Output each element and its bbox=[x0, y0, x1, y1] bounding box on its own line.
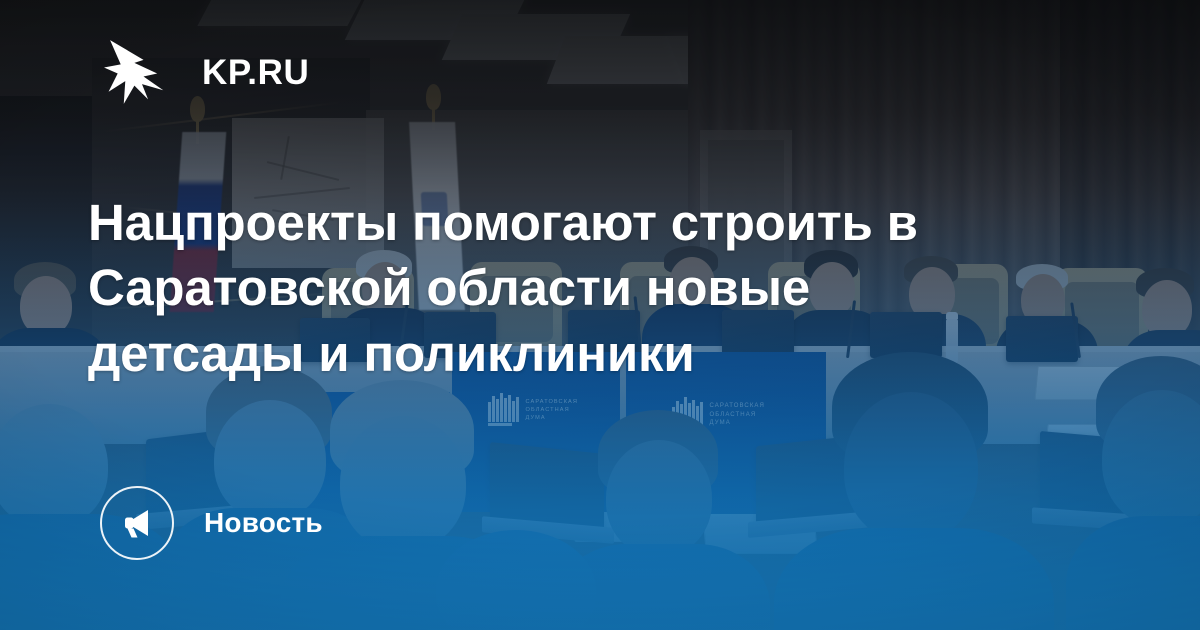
megaphone-icon bbox=[116, 502, 158, 544]
news-share-card: САРАТОВСКАЯ ОБЛАСТНАЯ ДУМА САРАТОВСКАЯ О… bbox=[0, 0, 1200, 630]
swallow-bird-icon bbox=[104, 34, 180, 110]
page-title: Нацпроекты помогают строить в Саратовско… bbox=[88, 190, 1028, 386]
badge-label: Новость bbox=[204, 507, 323, 539]
status-badge[interactable]: Новость bbox=[100, 486, 323, 560]
badge-icon-circle bbox=[100, 486, 174, 560]
card-content: KP.RU Нацпроекты помогают строить в Сара… bbox=[0, 0, 1200, 630]
brand-lockup[interactable]: KP.RU bbox=[104, 34, 309, 110]
brand-name: KP.RU bbox=[202, 55, 309, 90]
